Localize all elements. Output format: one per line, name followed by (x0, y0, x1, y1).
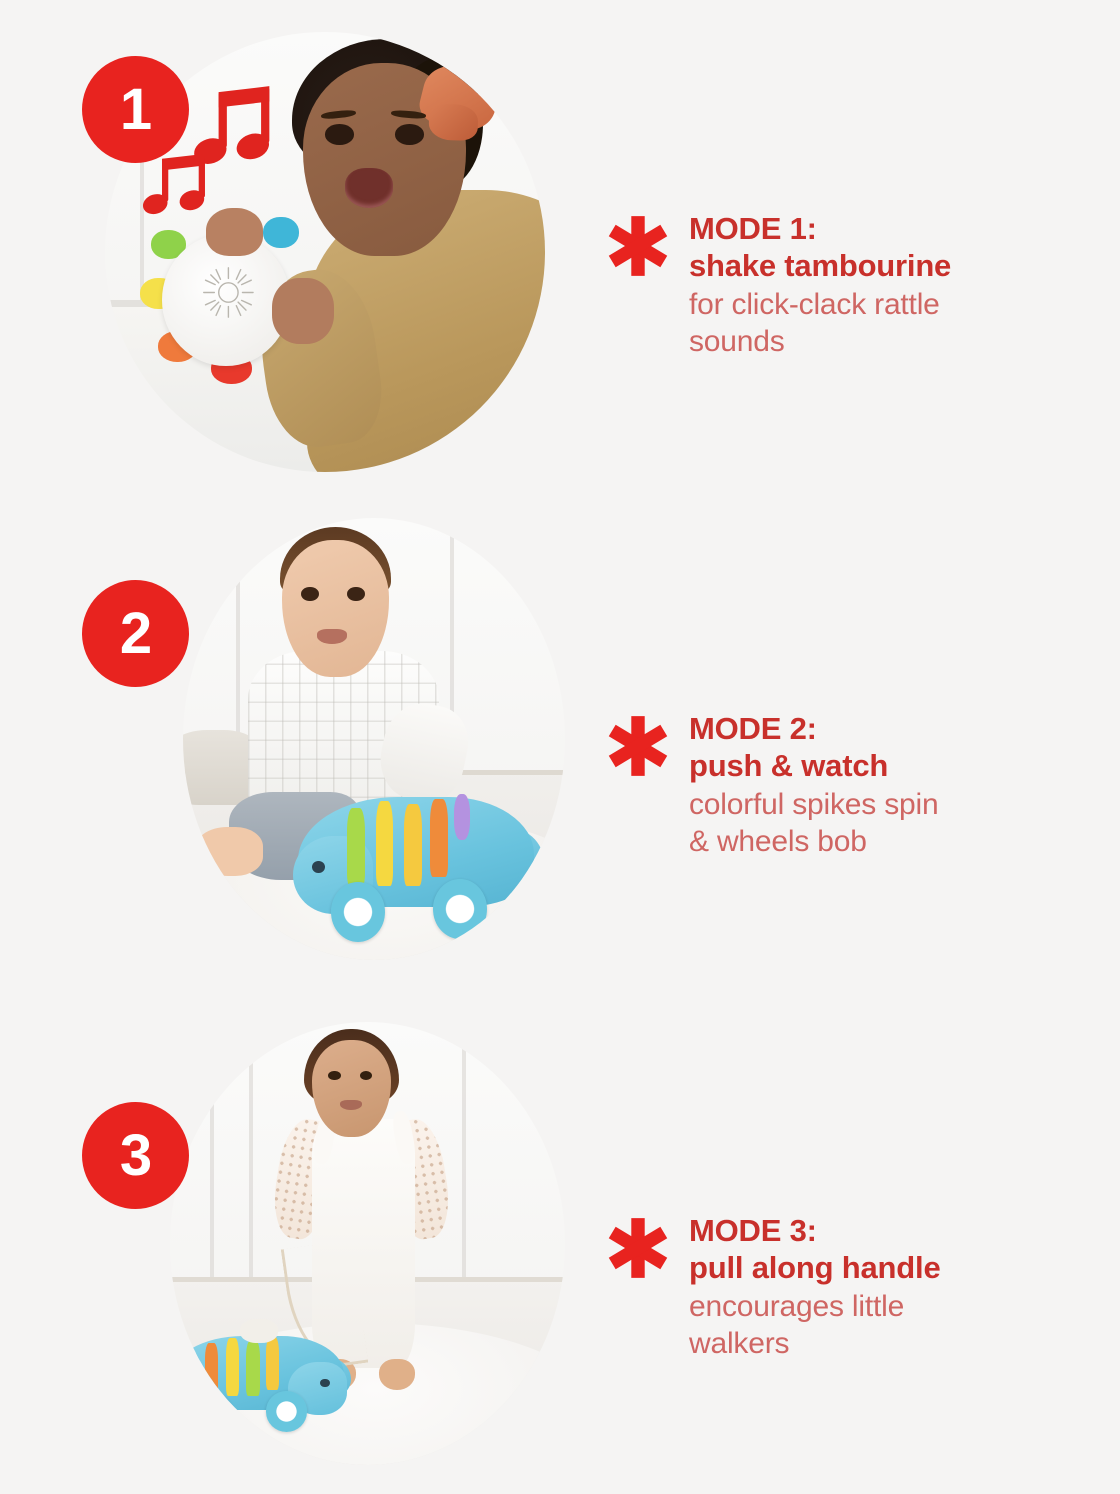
tambourine-sunburst-icon (202, 265, 255, 320)
step-number: 2 (120, 605, 151, 663)
baby-head (282, 540, 389, 677)
mode-2-description-line: colorful spikes spin (689, 786, 938, 824)
step-number: 1 (120, 81, 151, 139)
baby-eye (395, 124, 424, 144)
dino-spike (246, 1341, 259, 1396)
dinosaur-push-toy (298, 766, 535, 943)
baby-eye (347, 587, 365, 601)
step-badge-2: 2 (82, 580, 189, 687)
mode-2-description-line: & wheels bob (689, 823, 938, 861)
mode-2-text-block: MODE 2: push & watch colorful spikes spi… (605, 707, 938, 861)
mode-1-description: for click-clack rattle sounds (689, 286, 951, 361)
dino-spike (226, 1338, 239, 1395)
mode-2-description: colorful spikes spin & wheels bob (689, 786, 938, 861)
step-number: 3 (120, 1127, 151, 1185)
step-badge-3: 3 (82, 1102, 189, 1209)
mode-1-description-line: sounds (689, 323, 951, 361)
dino-tambourine-disc (240, 1319, 278, 1343)
toddler-eye (328, 1071, 341, 1081)
dino-wheel (331, 882, 385, 942)
mode-3-description-line: encourages little (689, 1288, 941, 1326)
mode-3-description: encourages little walkers (689, 1288, 941, 1363)
toddler-pulling-dinosaur-photo (170, 1022, 565, 1465)
baby-hand (272, 278, 334, 344)
baby-foot (194, 827, 263, 876)
mode-1-lines: MODE 1: shake tambourine for click-clack… (689, 207, 951, 361)
baby-eye (301, 587, 319, 601)
infographic-page: 1 MODE 1: shake tambourine for click-cla… (0, 0, 1120, 1494)
dino-spike (404, 804, 422, 885)
mode-1-description-line: for click-clack rattle (689, 286, 951, 324)
dino-wheel (433, 879, 487, 939)
mode-row-1: 1 MODE 1: shake tambourine for click-cla… (0, 0, 1120, 500)
baby-pushing-dinosaur-photo (183, 518, 565, 960)
mode-row-3: 3 MODE 3: pull along handle encourages l… (0, 998, 1120, 1494)
mode-3-text-block: MODE 3: pull along handle encourages lit… (605, 1209, 941, 1363)
tambourine-bead (263, 217, 298, 248)
mode-2-lines: MODE 2: push & watch colorful spikes spi… (689, 707, 938, 861)
mode-3-action: pull along handle (689, 1249, 941, 1287)
toddler-mouth (340, 1100, 362, 1111)
dino-spike (454, 794, 471, 840)
baby-mouth (345, 168, 393, 208)
scene-3 (170, 1022, 565, 1465)
wall-panel-line (462, 1022, 466, 1279)
mode-2-label: MODE 2: (689, 711, 938, 747)
dino-spike (205, 1343, 218, 1396)
baby-hand (206, 208, 263, 256)
mode-3-description-line: walkers (689, 1325, 941, 1363)
mode-2-action: push & watch (689, 747, 938, 785)
dino-wheel (266, 1391, 308, 1432)
dino-eye (312, 861, 325, 873)
baby-eye (325, 124, 354, 144)
mode-1-label: MODE 1: (689, 211, 951, 247)
scene-2 (183, 518, 565, 960)
dino-wheel (191, 1393, 233, 1434)
mode-row-2: 2 MODE 2: push & watch colorful spikes s… (0, 498, 1120, 998)
asterisk-icon (605, 1215, 671, 1281)
wall-panel-line (210, 1022, 214, 1279)
mode-3-lines: MODE 3: pull along handle encourages lit… (689, 1209, 941, 1363)
dino-spike (266, 1337, 279, 1390)
mode-3-label: MODE 3: (689, 1213, 941, 1249)
toddler-foot (379, 1359, 415, 1390)
dino-spike (376, 801, 394, 886)
step-badge-1: 1 (82, 56, 189, 163)
dino-spike (347, 808, 365, 886)
wall-panel-line (249, 1040, 253, 1279)
mode-1-text-block: MODE 1: shake tambourine for click-clack… (605, 207, 951, 361)
dinosaur-pull-toy (170, 1314, 344, 1434)
asterisk-icon (605, 713, 671, 779)
asterisk-icon (605, 213, 671, 279)
dino-spike (430, 799, 448, 877)
mode-1-action: shake tambourine (689, 247, 951, 285)
